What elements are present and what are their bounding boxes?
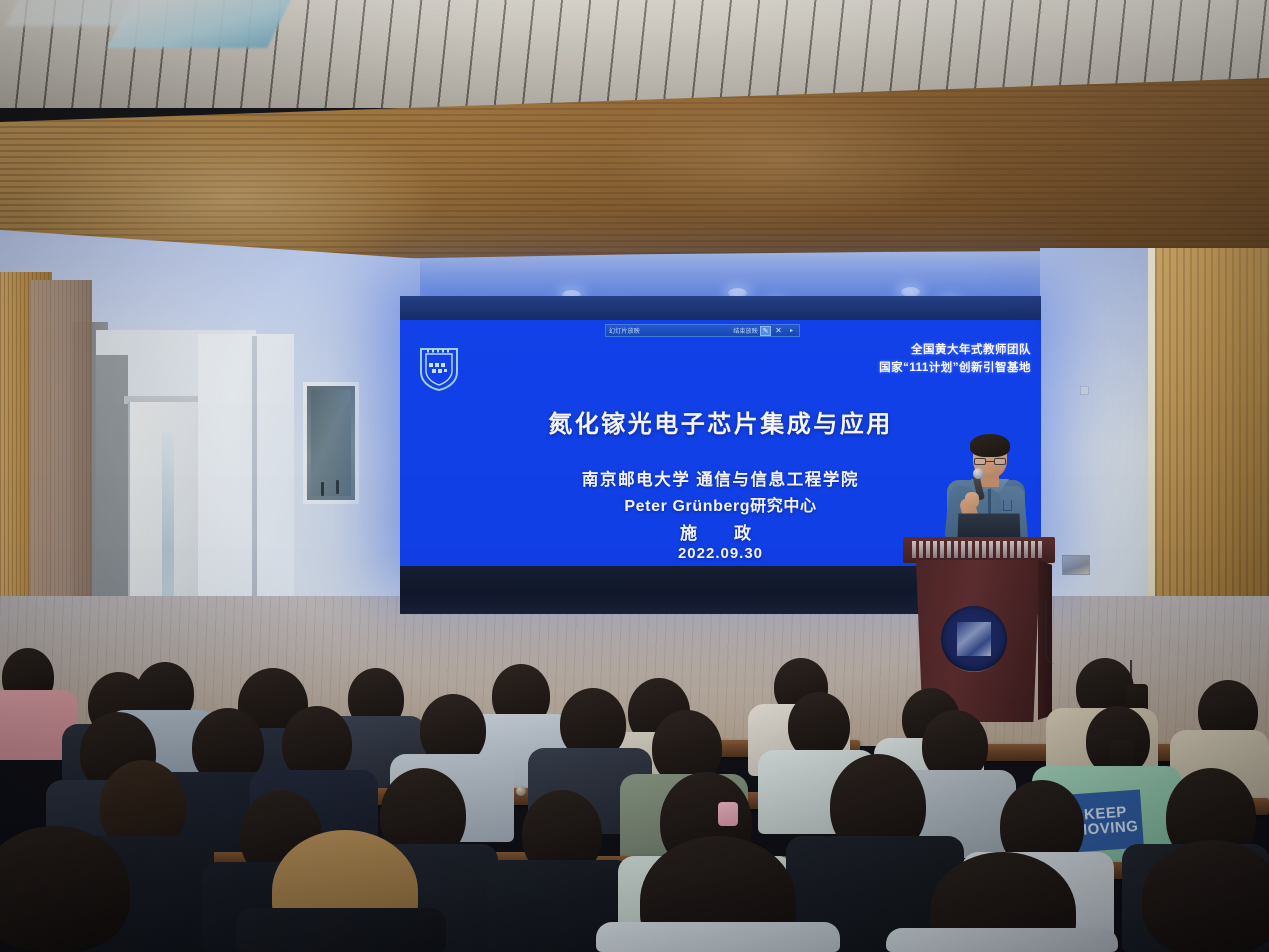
glasses-icon bbox=[974, 458, 1006, 465]
slide-affiliation-line-1: 南京邮电大学 通信与信息工程学院 bbox=[400, 466, 1041, 490]
slide-title: 氮化镓光电子芯片集成与应用 bbox=[400, 404, 1041, 439]
slide-header: 全国黄大年式教师团队 国家“111计划”创新引智基地 bbox=[879, 342, 1031, 378]
more-icon[interactable]: ▸ bbox=[786, 327, 797, 334]
speaker-shirt-pocket bbox=[1003, 500, 1012, 511]
niche-object bbox=[321, 482, 324, 496]
wall-switch-plate[interactable] bbox=[1080, 386, 1089, 395]
microphone-head bbox=[973, 468, 984, 479]
njupt-shield-logo bbox=[418, 344, 460, 392]
lecture-hall-photo: 幻灯片放映 结束放映 ✎ ✕ ▸ bbox=[0, 0, 1269, 952]
ceiling-fluorescent-lamp bbox=[107, 0, 292, 48]
presenter-laptop[interactable] bbox=[958, 513, 1021, 538]
audience-head bbox=[1142, 840, 1269, 952]
right-wall-blue-tint bbox=[1040, 248, 1160, 448]
audience-body bbox=[236, 908, 446, 952]
pointer-icon[interactable]: ✕ bbox=[773, 326, 784, 335]
toolbar-right-label: 结束放映 bbox=[733, 326, 760, 335]
toolbar-left-label: 幻灯片放映 bbox=[606, 326, 640, 335]
wall-niche-interior bbox=[311, 390, 351, 496]
bench-fitting bbox=[516, 786, 526, 796]
wall-vent-panel bbox=[1062, 555, 1090, 575]
header-line-1: 全国黄大年式教师团队 bbox=[879, 342, 1031, 360]
speaker-polo-placket bbox=[988, 489, 991, 515]
hair-clip-icon bbox=[718, 802, 738, 826]
niche-object bbox=[336, 480, 339, 494]
audience-area: KEEP MOVING bbox=[0, 640, 1269, 952]
speaker-hand bbox=[965, 492, 979, 508]
pen-icon[interactable]: ✎ bbox=[760, 326, 771, 336]
slide-affiliation-line-2: Peter Grünberg研究中心 bbox=[400, 492, 1041, 516]
audience-body bbox=[886, 928, 1118, 952]
led-screen-top-bezel bbox=[400, 296, 1041, 322]
speaker-hair bbox=[970, 434, 1010, 457]
slideshow-toolbar[interactable]: 幻灯片放映 结束放映 ✎ ✕ ▸ bbox=[605, 324, 800, 337]
header-line-2: 国家“111计划”创新引智基地 bbox=[879, 360, 1031, 378]
audience-body bbox=[596, 922, 840, 952]
ceiling-fluorescent-lamp-2 bbox=[5, 0, 146, 26]
podium-nameplate-lettering bbox=[912, 541, 1044, 558]
